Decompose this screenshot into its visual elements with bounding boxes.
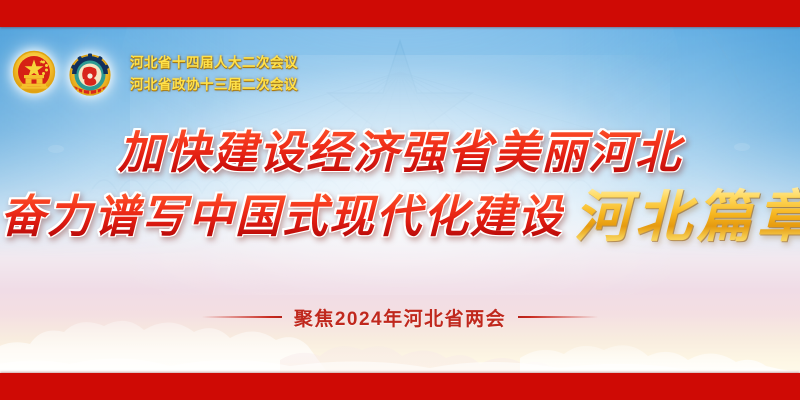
national-emblem-icon bbox=[8, 46, 60, 102]
masthead: 河北省十四届人大二次会议 河北省政协十三届二次会议 bbox=[8, 46, 298, 102]
subtitle-rule-right bbox=[518, 316, 598, 318]
headline-calligraphy: 河北篇章 bbox=[574, 184, 800, 250]
cppcc-emblem-svg bbox=[64, 46, 116, 102]
subtitle-text: 聚焦2024年河北省两会 bbox=[294, 304, 506, 331]
headline-line-1: 加快建设经济强省美丽河北 bbox=[0, 124, 800, 182]
bottom-red-band bbox=[0, 373, 800, 400]
subtitle-row: 聚焦2024年河北省两会 bbox=[0, 302, 800, 332]
headline-line-2: 奋力谱写中国式现代化建设河北篇章 bbox=[0, 186, 800, 248]
national-emblem-svg bbox=[8, 46, 60, 102]
headline: 加快建设经济强省美丽河北 奋力谱写中国式现代化建设河北篇章 bbox=[0, 124, 800, 248]
cppcc-emblem-icon bbox=[64, 46, 116, 102]
meeting-name-cppcc: 河北省政协十三届二次会议 bbox=[130, 74, 298, 96]
headline-line-2-block: 奋力谱写中国式现代化建设 bbox=[0, 191, 564, 242]
meeting-name-npc: 河北省十四届人大二次会议 bbox=[130, 52, 298, 74]
top-red-band bbox=[0, 0, 800, 27]
two-sessions-banner: 河北省十四届人大二次会议 河北省政协十三届二次会议 加快建设经济强省美丽河北 奋… bbox=[0, 0, 800, 400]
meeting-names: 河北省十四届人大二次会议 河北省政协十三届二次会议 bbox=[130, 52, 298, 96]
subtitle-rule-left bbox=[202, 316, 282, 318]
